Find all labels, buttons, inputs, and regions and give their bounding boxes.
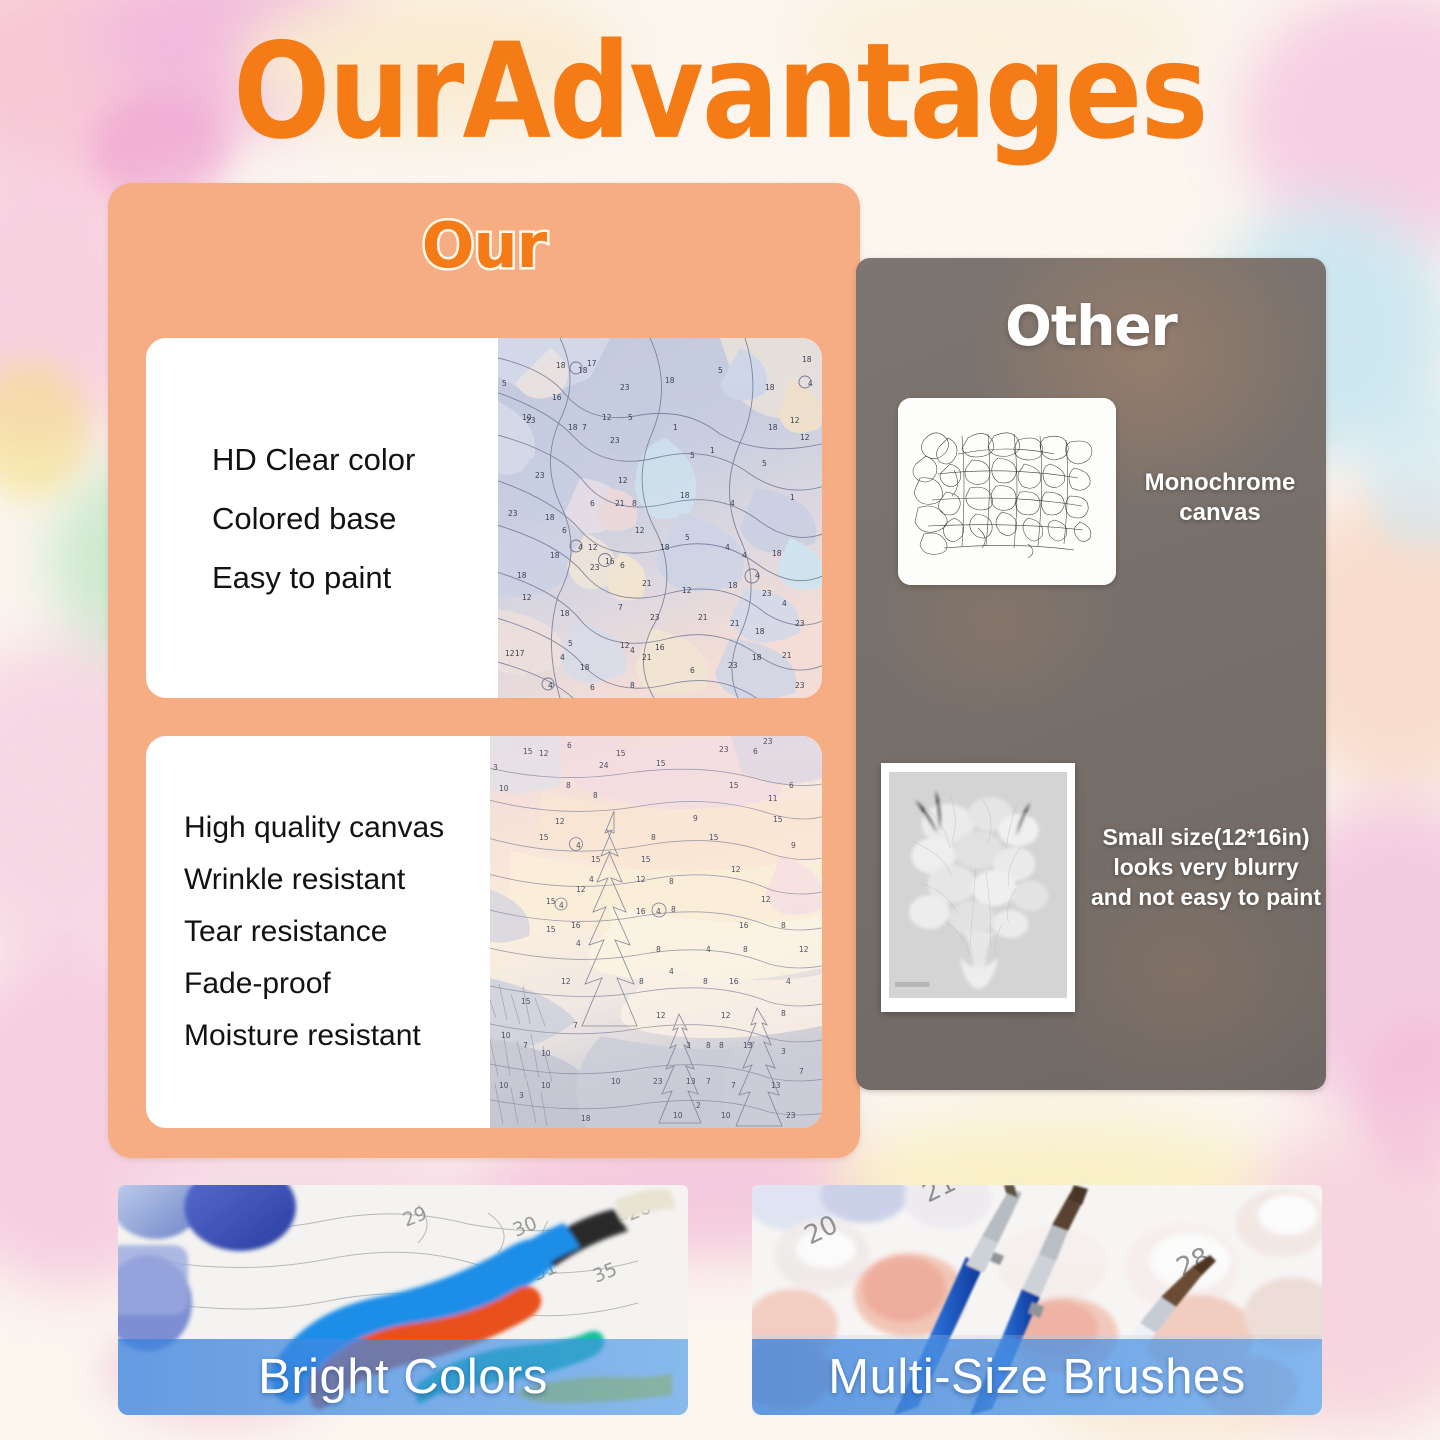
svg-text:16: 16 [636, 907, 646, 916]
svg-text:23: 23 [719, 745, 729, 754]
svg-text:17: 17 [515, 649, 525, 658]
svg-text:8: 8 [669, 877, 674, 886]
svg-text:21: 21 [642, 579, 652, 588]
svg-text:4: 4 [559, 901, 564, 910]
svg-text:15: 15 [546, 897, 556, 906]
svg-text:18: 18 [556, 361, 566, 370]
svg-text:7: 7 [799, 1067, 804, 1076]
svg-text:23: 23 [590, 563, 600, 572]
svg-text:7: 7 [731, 1081, 736, 1090]
blurb-line-2: looks very blurry [1084, 853, 1326, 883]
our-advantages-panel: Our HD Clear color Colored base Easy to … [108, 183, 860, 1158]
paint-by-numbers-canvas-image-1: 51018 171823 231618 7235 12181 551 18181… [498, 338, 822, 698]
svg-text:6: 6 [590, 499, 595, 508]
svg-text:18: 18 [755, 627, 765, 636]
svg-text:8: 8 [639, 977, 644, 986]
svg-text:15: 15 [709, 833, 719, 842]
svg-text:3: 3 [493, 763, 498, 772]
svg-text:8: 8 [651, 833, 656, 842]
svg-text:4: 4 [656, 907, 661, 916]
svg-text:8: 8 [632, 499, 637, 508]
svg-text:12: 12 [555, 817, 565, 826]
svg-text:15: 15 [616, 749, 626, 758]
svg-text:7: 7 [582, 423, 587, 432]
svg-text:16: 16 [552, 393, 562, 402]
svg-text:12: 12 [800, 433, 810, 442]
small-size-warning-text: Small size(12*16in) looks very blurry an… [1084, 823, 1326, 913]
svg-text:12: 12 [682, 586, 692, 595]
svg-text:18: 18 [772, 549, 782, 558]
svg-text:13: 13 [771, 1081, 781, 1090]
svg-text:6: 6 [789, 781, 794, 790]
svg-text:23: 23 [762, 589, 772, 598]
svg-text:12: 12 [588, 543, 598, 552]
svg-text:10: 10 [541, 1081, 551, 1090]
svg-text:3: 3 [686, 1041, 691, 1050]
svg-text:12: 12 [505, 649, 515, 658]
svg-text:5: 5 [685, 533, 690, 542]
svg-text:8: 8 [706, 1041, 711, 1050]
svg-text:15: 15 [641, 855, 651, 864]
svg-text:24: 24 [599, 761, 609, 770]
svg-text:1: 1 [790, 493, 795, 502]
svg-text:5: 5 [690, 451, 695, 460]
svg-text:18: 18 [728, 581, 738, 590]
svg-text:10: 10 [499, 1081, 509, 1090]
svg-text:3: 3 [519, 1091, 524, 1100]
svg-text:7: 7 [523, 1041, 528, 1050]
svg-text:6: 6 [562, 526, 567, 535]
multi-size-brushes-caption: Multi-Size Brushes [752, 1339, 1322, 1415]
svg-text:4: 4 [730, 499, 735, 508]
svg-text:7: 7 [573, 1021, 578, 1030]
svg-text:23: 23 [610, 436, 620, 445]
svg-text:18: 18 [545, 513, 555, 522]
svg-text:15: 15 [539, 833, 549, 842]
svg-text:12: 12 [635, 526, 645, 535]
our-panel-heading: Our [108, 209, 860, 282]
svg-text:23: 23 [526, 416, 536, 425]
svg-text:5: 5 [502, 379, 507, 388]
svg-text:12: 12 [799, 945, 809, 954]
svg-text:12: 12 [790, 416, 800, 425]
svg-text:11: 11 [768, 794, 778, 803]
svg-text:12: 12 [721, 1011, 731, 1020]
svg-text:8: 8 [566, 781, 571, 790]
feature-item: Moisture resistant [184, 1010, 490, 1062]
svg-text:18: 18 [581, 1114, 591, 1123]
svg-text:13: 13 [686, 1077, 696, 1086]
svg-text:2: 2 [696, 1101, 701, 1110]
svg-text:21: 21 [642, 653, 652, 662]
other-panel-heading: Other [856, 294, 1326, 358]
svg-text:12: 12 [576, 885, 586, 894]
svg-text:12: 12 [539, 749, 549, 758]
page-title-container: OurAdvantages [0, 28, 1440, 153]
svg-text:16: 16 [739, 921, 749, 930]
svg-text:8: 8 [671, 905, 676, 914]
svg-text:12: 12 [618, 476, 628, 485]
svg-text:4: 4 [786, 977, 791, 986]
svg-text:10: 10 [499, 784, 509, 793]
svg-text:8: 8 [656, 945, 661, 954]
svg-text:21: 21 [782, 651, 792, 660]
feature-item: Easy to paint [212, 548, 498, 607]
svg-text:12: 12 [561, 977, 571, 986]
feature-item: HD Clear color [212, 430, 498, 489]
svg-text:6: 6 [620, 561, 625, 570]
svg-text:21: 21 [615, 499, 625, 508]
svg-text:18: 18 [550, 551, 560, 560]
svg-text:18: 18 [680, 491, 690, 500]
svg-text:3: 3 [781, 1047, 786, 1056]
svg-text:8: 8 [630, 681, 635, 690]
svg-text:18: 18 [568, 423, 578, 432]
svg-text:12: 12 [620, 641, 630, 650]
feature-item: Wrinkle resistant [184, 854, 490, 906]
svg-text:4: 4 [782, 599, 787, 608]
svg-text:4: 4 [742, 551, 747, 560]
svg-text:6: 6 [590, 683, 595, 692]
svg-text:4: 4 [589, 875, 594, 884]
multi-size-brushes-photo-card: 20 21 28 Multi-Size Bru [752, 1185, 1322, 1415]
svg-text:12: 12 [731, 865, 741, 874]
svg-text:10: 10 [501, 1031, 511, 1040]
svg-text:5: 5 [718, 366, 723, 375]
svg-text:18: 18 [802, 355, 812, 364]
svg-text:18: 18 [768, 423, 778, 432]
svg-text:15: 15 [591, 855, 601, 864]
svg-text:6: 6 [690, 666, 695, 675]
svg-text:15: 15 [521, 997, 531, 1006]
svg-text:18: 18 [578, 366, 588, 375]
feature-item: Fade-proof [184, 958, 490, 1010]
other-comparison-panel: Other [856, 258, 1326, 1090]
svg-text:4: 4 [576, 939, 581, 948]
svg-text:9: 9 [693, 814, 698, 823]
svg-text:23: 23 [795, 681, 805, 690]
svg-text:18: 18 [517, 571, 527, 580]
mono-label-line-1: Monochrome [1122, 468, 1318, 498]
svg-text:18: 18 [665, 376, 675, 385]
svg-text:21: 21 [730, 619, 740, 628]
svg-text:21: 21 [698, 613, 708, 622]
svg-text:23: 23 [728, 661, 738, 670]
monochrome-canvas-label: Monochrome canvas [1122, 468, 1318, 528]
svg-text:15: 15 [546, 925, 556, 934]
svg-text:16: 16 [655, 643, 665, 652]
our-feature-card-1: HD Clear color Colored base Easy to pain… [146, 338, 822, 698]
svg-text:1: 1 [673, 423, 678, 432]
svg-text:15: 15 [773, 815, 783, 824]
svg-text:18: 18 [660, 543, 670, 552]
svg-text:12: 12 [636, 875, 646, 884]
svg-text:12: 12 [656, 1011, 666, 1020]
svg-text:23: 23 [795, 619, 805, 628]
blurb-line-3: and not easy to paint [1084, 883, 1326, 913]
svg-text:4: 4 [669, 967, 674, 976]
monochrome-canvas-image [898, 398, 1116, 585]
our-feature-list-2: High quality canvas Wrinkle resistant Te… [146, 736, 490, 1128]
svg-text:18: 18 [560, 609, 570, 618]
blurb-line-1: Small size(12*16in) [1084, 823, 1326, 853]
mono-label-line-2: canvas [1122, 498, 1318, 528]
svg-text:5: 5 [628, 413, 633, 422]
svg-text:10: 10 [673, 1111, 683, 1120]
svg-text:10: 10 [541, 1049, 551, 1058]
svg-text:16: 16 [729, 977, 739, 986]
svg-text:8: 8 [593, 791, 598, 800]
svg-text:12: 12 [522, 593, 532, 602]
blurry-grayscale-poster [881, 763, 1075, 1012]
svg-text:6: 6 [753, 747, 758, 756]
svg-text:4: 4 [560, 653, 565, 662]
paint-by-numbers-canvas-image-2: 15126 32415 15236 23108 15611 8129 15158… [490, 736, 822, 1128]
feature-item: High quality canvas [184, 802, 490, 854]
svg-text:23: 23 [786, 1111, 796, 1120]
svg-text:23: 23 [650, 613, 660, 622]
svg-text:7: 7 [706, 1077, 711, 1086]
svg-text:9: 9 [791, 841, 796, 850]
svg-text:23: 23 [620, 383, 630, 392]
svg-text:8: 8 [781, 921, 786, 930]
svg-text:10: 10 [611, 1077, 621, 1086]
svg-text:15: 15 [523, 747, 533, 756]
svg-text:7: 7 [618, 603, 623, 612]
feature-item: Tear resistance [184, 906, 490, 958]
svg-text:8: 8 [719, 1041, 724, 1050]
our-feature-list-1: HD Clear color Colored base Easy to pain… [146, 338, 498, 698]
svg-text:13: 13 [743, 1041, 753, 1050]
bright-colors-photo-card: 26 31 35 29 30 Bright Colors [118, 1185, 688, 1415]
svg-text:8: 8 [703, 977, 708, 986]
svg-text:5: 5 [762, 459, 767, 468]
svg-text:12: 12 [602, 413, 612, 422]
svg-text:18: 18 [580, 663, 590, 672]
page-title: OurAdvantages [233, 24, 1207, 156]
svg-text:18: 18 [765, 383, 775, 392]
poster-artwork [889, 772, 1067, 998]
bright-colors-caption: Bright Colors [118, 1339, 688, 1415]
svg-text:15: 15 [729, 781, 739, 790]
svg-text:16: 16 [571, 921, 581, 930]
svg-text:15: 15 [656, 759, 666, 768]
svg-text:8: 8 [781, 1009, 786, 1018]
svg-text:4: 4 [630, 646, 635, 655]
svg-text:23: 23 [763, 737, 773, 746]
svg-text:23: 23 [653, 1077, 663, 1086]
svg-text:8: 8 [743, 945, 748, 954]
svg-text:4: 4 [725, 543, 730, 552]
svg-text:23: 23 [535, 471, 545, 480]
svg-text:17: 17 [587, 359, 597, 368]
our-feature-card-2: High quality canvas Wrinkle resistant Te… [146, 736, 822, 1128]
svg-text:18: 18 [752, 653, 762, 662]
svg-text:12: 12 [761, 895, 771, 904]
svg-text:6: 6 [567, 741, 572, 750]
feature-item: Colored base [212, 489, 498, 548]
svg-text:23: 23 [508, 509, 518, 518]
svg-text:1: 1 [710, 446, 715, 455]
svg-text:4: 4 [706, 945, 711, 954]
svg-text:10: 10 [721, 1111, 731, 1120]
svg-text:5: 5 [568, 639, 573, 648]
